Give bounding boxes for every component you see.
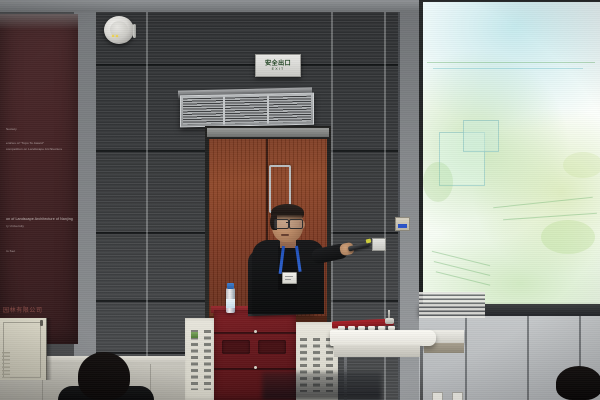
name-badge — [282, 272, 297, 284]
bottle-cap-icon — [227, 283, 234, 289]
hvac-vent-icon — [180, 93, 314, 128]
lecture-hall-photo: Society entries of "Topo To Award" compe… — [0, 0, 600, 400]
slide-building-shape — [463, 120, 499, 152]
banner-highlight — [0, 14, 78, 30]
conference-banner: Society entries of "Topo To Award" compe… — [0, 14, 78, 344]
podium-side-panel-left — [185, 318, 217, 400]
banner-line-3: on of Landscape Architecture of Nanjing — [6, 217, 73, 221]
banner-line-5: rs Sec — [6, 249, 15, 253]
projection-screen — [423, 2, 600, 308]
desk-leg — [420, 346, 423, 400]
audience-row-blur — [262, 372, 382, 400]
glasses-bridge — [286, 222, 290, 223]
desk-apron — [334, 345, 422, 357]
av-control-desk[interactable] — [330, 330, 436, 346]
indicator-led-icon — [116, 35, 118, 37]
banner-chinese-line: 园林有限公司 — [3, 305, 43, 314]
speaker-mount-arm — [133, 24, 136, 38]
exit-sign-english: EXIT — [272, 67, 285, 72]
glasses-icon — [274, 219, 289, 229]
banner-line-1: entries of "Topo To Award" — [6, 141, 44, 145]
banner-line-2: competition on Landscape Architecture — [6, 147, 62, 151]
light-switch-icon[interactable] — [395, 217, 410, 231]
banner-line-0: Society — [6, 127, 17, 131]
door-header — [207, 128, 329, 137]
water-bottle[interactable] — [226, 288, 235, 313]
audience-member-head — [78, 352, 130, 400]
exit-sign-chinese: 安全出口 — [265, 60, 291, 67]
cabinet-shadow — [46, 318, 52, 380]
indicator-led-icon — [112, 35, 114, 37]
audience-member-head — [556, 366, 600, 400]
wall-outlet-icon[interactable] — [432, 392, 443, 400]
bottle-label — [226, 299, 235, 308]
presenter-mouth — [281, 234, 289, 236]
cabinet-latch-icon[interactable] — [40, 320, 43, 326]
glasses-icon — [289, 219, 303, 229]
wall-outlet-icon[interactable] — [372, 238, 386, 251]
podium-emblem-icon — [191, 332, 198, 338]
banner-line-4: ry University — [6, 224, 24, 228]
wall-outlet-icon[interactable] — [452, 392, 463, 400]
microphone-icon[interactable] — [385, 318, 394, 324]
cabinet-vent-icon — [2, 352, 10, 378]
wall-grille-icon — [419, 292, 485, 318]
exit-sign: 安全出口 EXIT — [255, 54, 301, 77]
